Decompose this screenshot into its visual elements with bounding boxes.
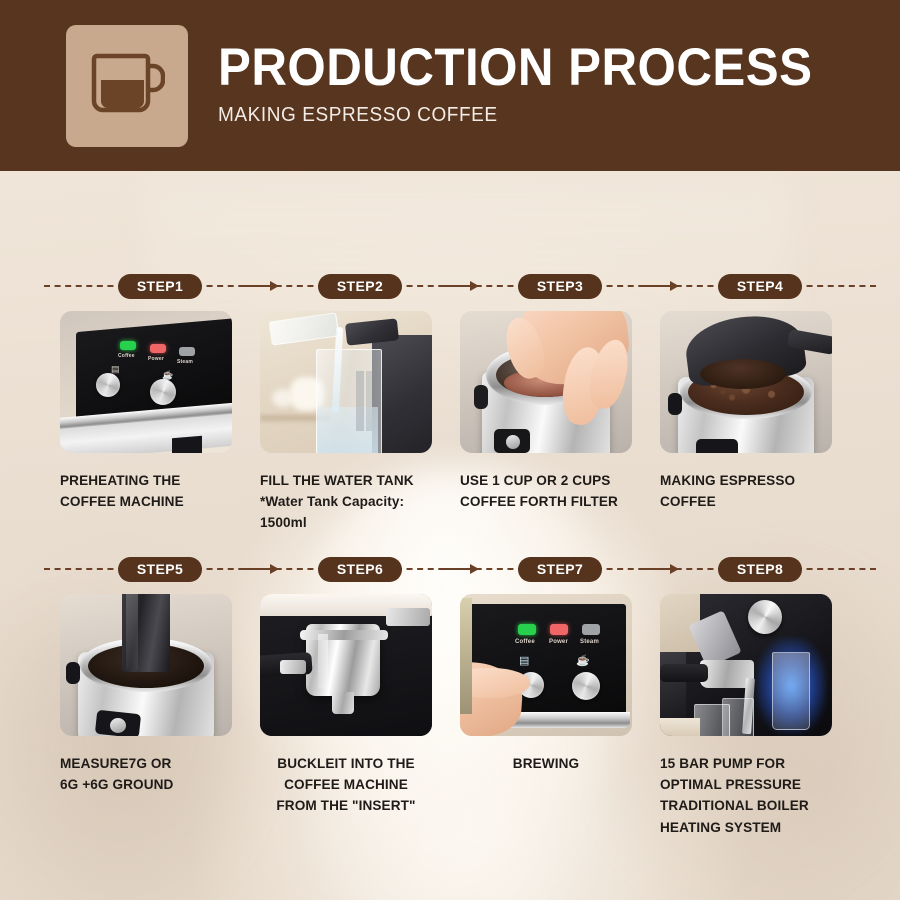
step-caption-8: 15 BAR PUMP FOR OPTIMAL PRESSURE TRADITI…: [660, 753, 832, 838]
step-image-8: [660, 594, 832, 736]
page-subtitle: MAKING ESPRESSO COFFEE: [218, 104, 825, 127]
step-image-3: [460, 311, 632, 453]
step-rail-row-2: STEP5 STEP6 STEP7 STEP8: [60, 556, 860, 582]
step-image-2: [260, 311, 432, 453]
step-caption-3: USE 1 CUP OR 2 CUPS COFFEE FORTH FILTER: [460, 470, 632, 512]
led-label-steam: Steam: [580, 639, 599, 645]
step-cell-1: Coffee Power Steam ▤ ☕ PREHEATING THE CO…: [60, 311, 260, 534]
dash-line: [244, 568, 324, 570]
step-rail-cell-1: STEP1: [60, 273, 260, 299]
led-label-power: Power: [148, 356, 164, 362]
step-cell-4: MAKING ESPRESSO COFFEE: [660, 311, 860, 534]
step-image-1: Coffee Power Steam ▤ ☕: [60, 311, 232, 453]
cup-glyph: ▤: [519, 656, 529, 667]
step-caption-7: BREWING: [460, 753, 632, 774]
step-badge-4[interactable]: STEP4: [718, 274, 802, 299]
step-cell-2: FILL THE WATER TANK *Water Tank Capacity…: [260, 311, 460, 534]
step-badge-6[interactable]: STEP6: [318, 557, 402, 582]
step-rail-cell-8: STEP8: [660, 556, 860, 582]
arrow-icon: [270, 564, 279, 574]
led-label-power: Power: [549, 639, 568, 645]
step-rail-cell-5: STEP5: [60, 556, 260, 582]
step-badge-5[interactable]: STEP5: [118, 557, 202, 582]
machine-knob[interactable]: [748, 600, 782, 634]
dash-line: [444, 285, 524, 287]
step-rail-cell-7: STEP7: [460, 556, 660, 582]
step-image-7: Coffee Power Steam ▤ ☕: [460, 594, 632, 736]
led-label-coffee: Coffee: [118, 353, 135, 359]
cup-glyph: ▤: [111, 365, 120, 374]
step-cell-8: 15 BAR PUMP FOR OPTIMAL PRESSURE TRADITI…: [660, 594, 860, 838]
header-text-block: PRODUCTION PROCESS MAKING ESPRESSO COFFE…: [218, 41, 857, 131]
dash-line: [44, 285, 124, 287]
led-label-steam: Steam: [177, 359, 193, 365]
step-rail-row-1: STEP1 STEP2 STEP3 STEP4: [60, 273, 860, 299]
step-caption-2: FILL THE WATER TANK *Water Tank Capacity…: [260, 470, 432, 534]
dash-line: [44, 568, 124, 570]
arrow-icon: [670, 564, 679, 574]
step-grid-row-2: MEASURE7G OR 6G +6G GROUND BUCKLEIT: [60, 594, 860, 838]
step-rail-cell-4: STEP4: [660, 273, 860, 299]
steam-dial[interactable]: [572, 672, 600, 700]
step-grid-row-1: Coffee Power Steam ▤ ☕ PREHEATING THE CO…: [60, 311, 860, 534]
step-caption-5: MEASURE7G OR 6G +6G GROUND: [60, 753, 232, 795]
step-rail-cell-3: STEP3: [460, 273, 660, 299]
arrow-icon: [670, 281, 679, 291]
step-badge-8[interactable]: STEP8: [718, 557, 802, 582]
page-title: PRODUCTION PROCESS: [218, 41, 812, 94]
steam-dial[interactable]: [150, 379, 176, 405]
page-header: PRODUCTION PROCESS MAKING ESPRESSO COFFE…: [0, 0, 900, 171]
step-image-6: [260, 594, 432, 736]
dash-line: [444, 568, 524, 570]
coffee-cup-icon: [89, 46, 165, 125]
dash-line: [796, 285, 876, 287]
arrow-icon: [470, 564, 479, 574]
step-badge-2[interactable]: STEP2: [318, 274, 402, 299]
step-image-4: [660, 311, 832, 453]
step-cell-5: MEASURE7G OR 6G +6G GROUND: [60, 594, 260, 838]
arrow-icon: [270, 281, 279, 291]
step-rail-cell-2: STEP2: [260, 273, 460, 299]
step-caption-4: MAKING ESPRESSO COFFEE: [660, 470, 832, 512]
step-badge-7[interactable]: STEP7: [518, 557, 602, 582]
infographic-page: PRODUCTION PROCESS MAKING ESPRESSO COFFE…: [0, 0, 900, 900]
arrow-icon: [470, 281, 479, 291]
step-badge-1[interactable]: STEP1: [118, 274, 202, 299]
step-rail-cell-6: STEP6: [260, 556, 460, 582]
step-image-5: [60, 594, 232, 736]
step-cell-6: BUCKLEIT INTO THE COFFEE MACHINE FROM TH…: [260, 594, 460, 838]
led-label-coffee: Coffee: [515, 639, 535, 645]
dash-line: [796, 568, 876, 570]
brew-dial[interactable]: [96, 373, 120, 397]
step-caption-6: BUCKLEIT INTO THE COFFEE MACHINE FROM TH…: [260, 753, 432, 817]
step-cell-7: Coffee Power Steam ▤ ☕ BREWING: [460, 594, 660, 838]
header-icon-tile: [66, 25, 188, 147]
dash-line: [644, 285, 724, 287]
step-badge-3[interactable]: STEP3: [518, 274, 602, 299]
steam-glyph: ☕: [576, 656, 590, 667]
step-cell-3: USE 1 CUP OR 2 CUPS COFFEE FORTH FILTER: [460, 311, 660, 534]
dash-line: [244, 285, 324, 287]
step-caption-1: PREHEATING THE COFFEE MACHINE: [60, 470, 232, 512]
dash-line: [644, 568, 724, 570]
